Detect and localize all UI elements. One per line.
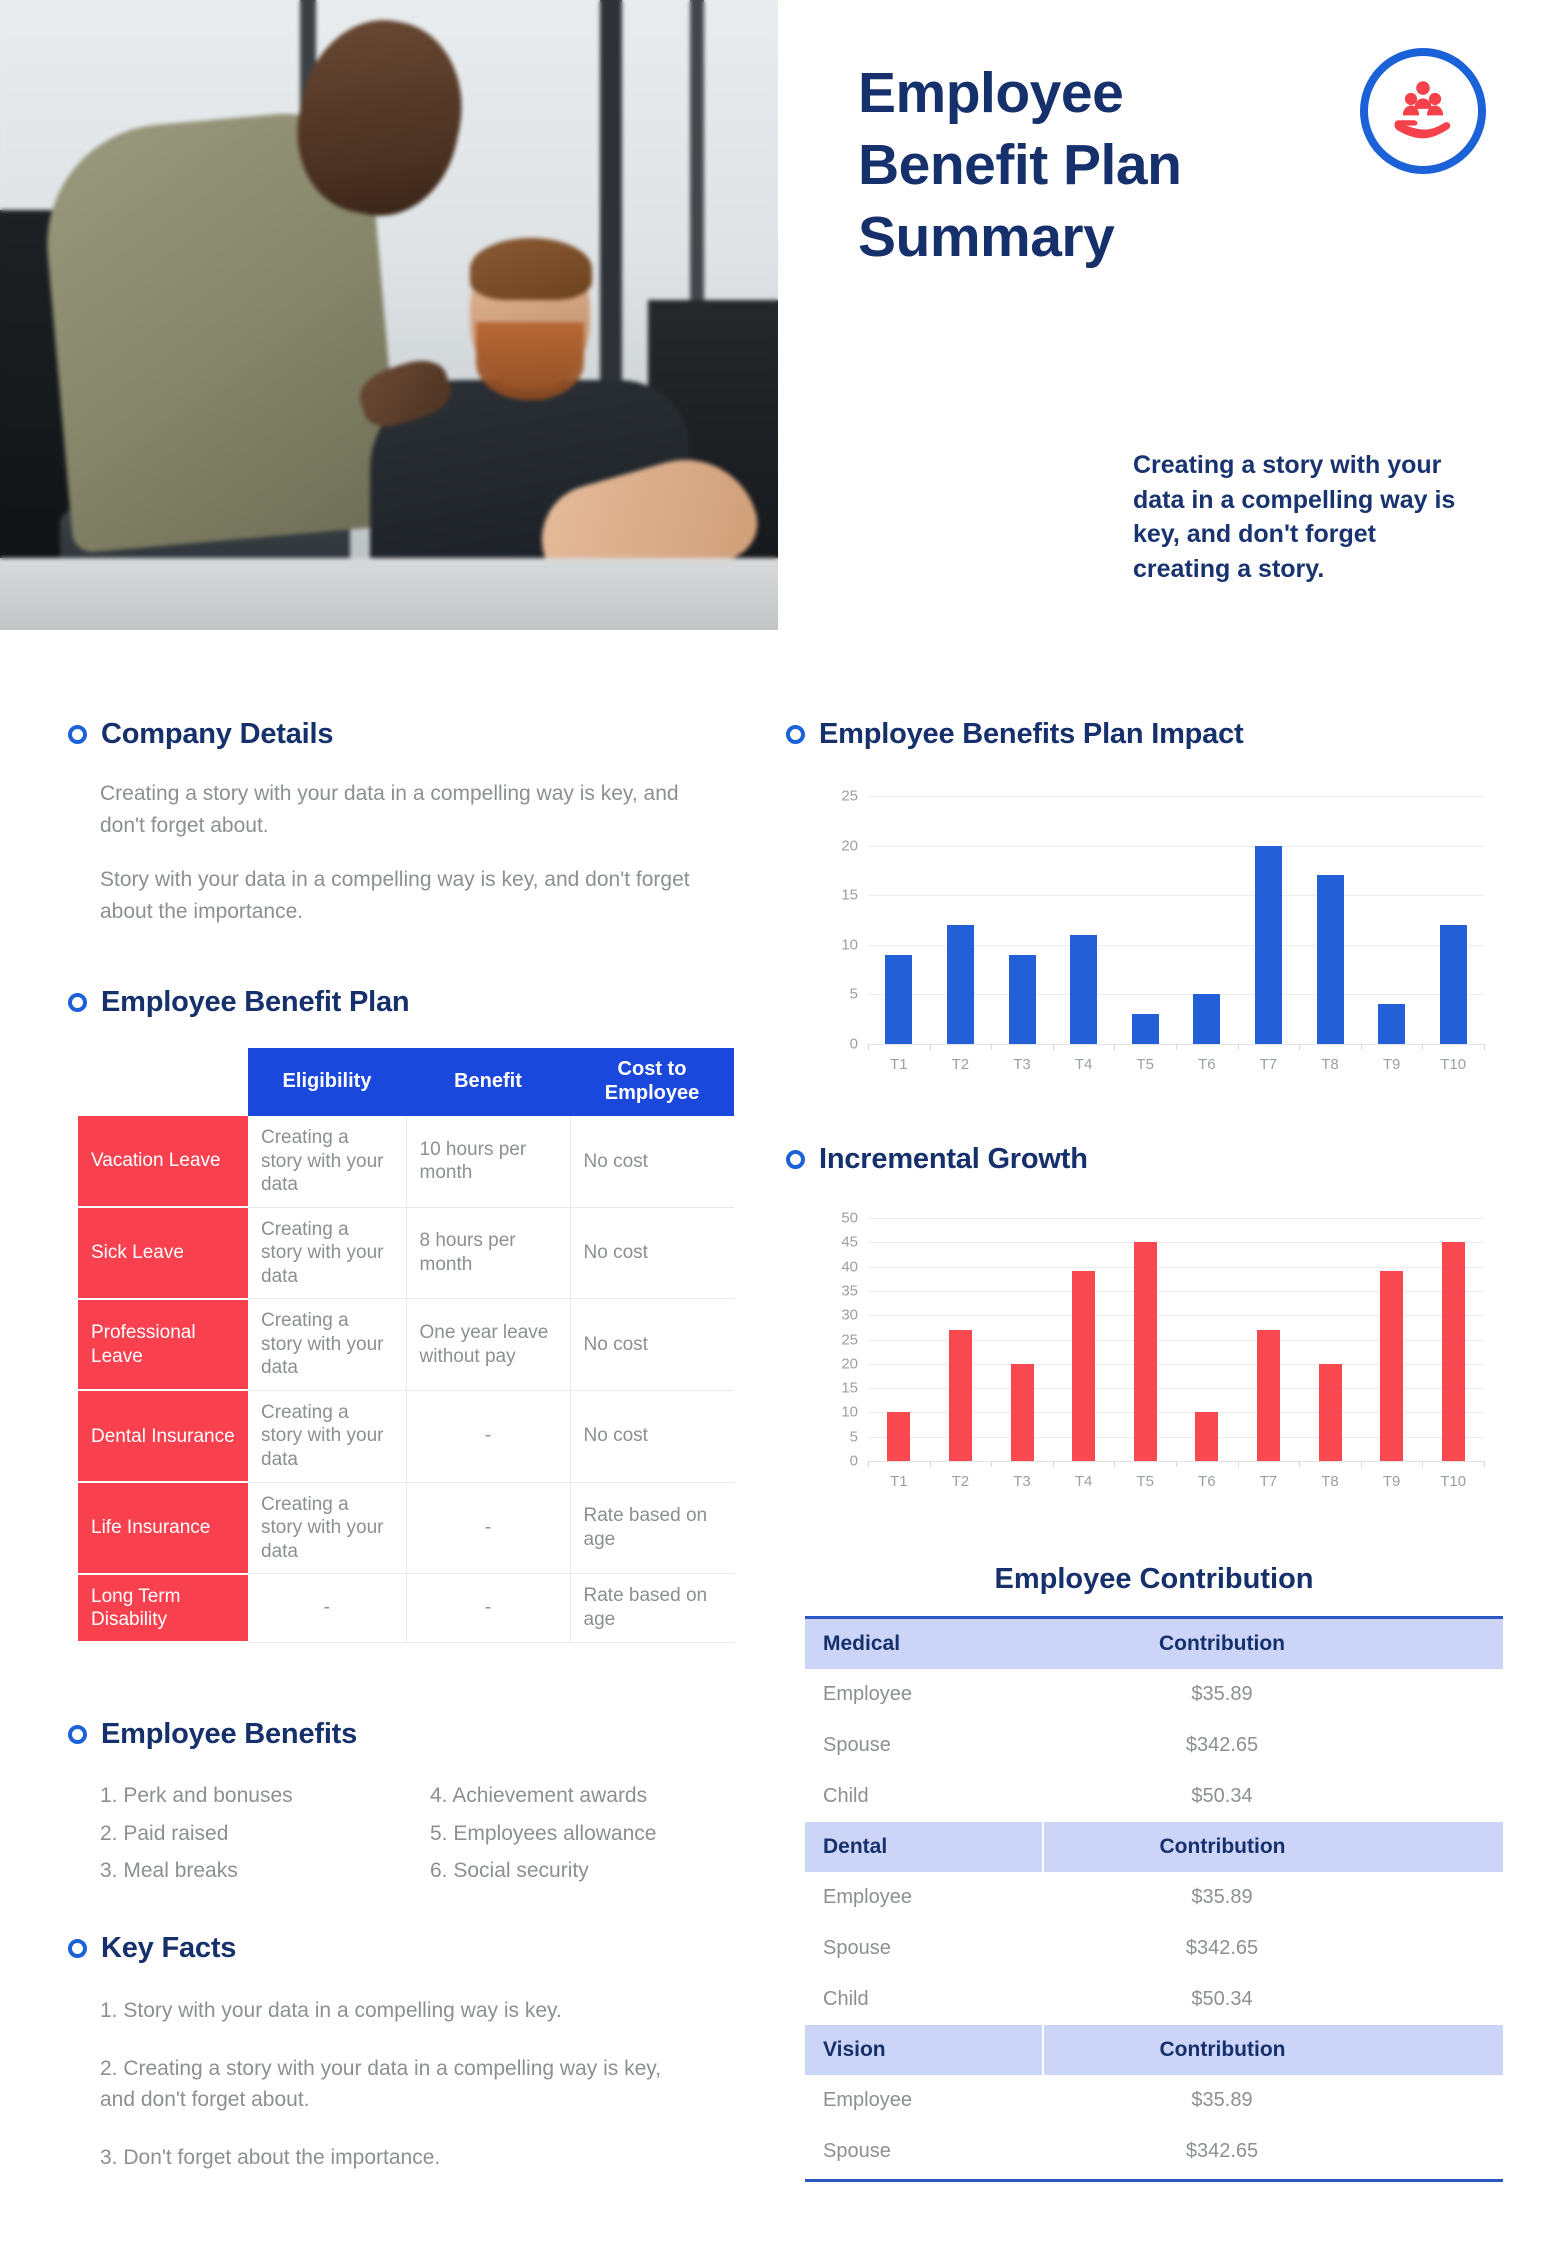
list-item: 5. Employees allowance bbox=[430, 1818, 760, 1850]
bar-T4 bbox=[1072, 1271, 1095, 1461]
list-item: 3. Don't forget about the importance. bbox=[100, 2142, 700, 2174]
company-details-paragraph: Creating a story with your data in a com… bbox=[100, 778, 720, 842]
x-axis-tickmark bbox=[868, 1461, 869, 1467]
x-axis-tickmark bbox=[1484, 1044, 1485, 1050]
row-value: $342.65 bbox=[1043, 1720, 1503, 1771]
infographic-page: Employee Benefit Plan Summary Creating a… bbox=[0, 0, 1557, 2249]
bar-T1 bbox=[887, 1412, 910, 1461]
section-plan-impact-heading: Employee Benefits Plan Impact bbox=[786, 718, 1244, 751]
y-axis-tick-label: 45 bbox=[841, 1234, 858, 1251]
contribution-bottom-rule bbox=[805, 2179, 1503, 2182]
row-label: Long Term Disability bbox=[78, 1574, 248, 1642]
x-axis-tickmark bbox=[991, 1461, 992, 1467]
list-item: 4. Achievement awards bbox=[430, 1780, 760, 1812]
row-label: Life Insurance bbox=[78, 1482, 248, 1574]
contribution-table: MedicalContributionEmployee$35.89Spouse$… bbox=[805, 1619, 1503, 2177]
group-value-header: Contribution bbox=[1043, 1619, 1503, 1669]
y-axis-tick-label: 50 bbox=[841, 1210, 858, 1227]
x-axis-tickmark bbox=[1361, 1044, 1362, 1050]
gridline: 45 bbox=[868, 1242, 1484, 1243]
bar-T2 bbox=[947, 925, 974, 1044]
bar-T7 bbox=[1257, 1330, 1280, 1461]
company-details-title: Company Details bbox=[101, 718, 333, 751]
table-header-row: Eligibility Benefit Cost to Employee bbox=[78, 1048, 734, 1116]
benefit-plan-table-head: Eligibility Benefit Cost to Employee bbox=[78, 1048, 734, 1116]
row-label: Employee bbox=[805, 1669, 1043, 1720]
cell-cost: No cost bbox=[570, 1116, 734, 1207]
table-row: Child$50.34 bbox=[805, 1974, 1503, 2025]
section-company-details-heading: Company Details bbox=[68, 718, 333, 751]
x-axis-tickmark bbox=[930, 1044, 931, 1050]
title-line-1: Employee bbox=[858, 58, 1418, 130]
col-header-eligibility: Eligibility bbox=[248, 1048, 406, 1116]
ring-bullet-icon bbox=[68, 993, 87, 1012]
list-item: 2. Paid raised bbox=[100, 1818, 430, 1850]
ring-bullet-icon bbox=[786, 1150, 805, 1169]
contribution-group-header: MedicalContribution bbox=[805, 1619, 1503, 1669]
bar-T8 bbox=[1319, 1364, 1342, 1461]
list-item: 1. Perk and bonuses bbox=[100, 1780, 430, 1812]
table-row: Vacation Leave Creating a story with you… bbox=[78, 1116, 734, 1207]
y-axis-tick-label: 15 bbox=[841, 1380, 858, 1397]
y-axis-tick-label: 25 bbox=[841, 1331, 858, 1348]
hand-holding-people-icon bbox=[1360, 48, 1486, 174]
x-axis-tick-label: T5 bbox=[1136, 1473, 1154, 1490]
section-key-facts-heading: Key Facts bbox=[68, 1932, 236, 1965]
row-label: Sick Leave bbox=[78, 1207, 248, 1299]
cell-cost: No cost bbox=[570, 1299, 734, 1391]
group-label: Vision bbox=[805, 2025, 1043, 2075]
row-value: $50.34 bbox=[1043, 1974, 1503, 2025]
hero-photo bbox=[0, 0, 778, 630]
cell-cost: Rate based on age bbox=[570, 1482, 734, 1574]
y-axis-tick-label: 0 bbox=[850, 1453, 858, 1470]
incremental-growth-bar-chart: 05101520253035404550T1T2T3T4T5T6T7T8T9T1… bbox=[810, 1210, 1490, 1495]
x-axis-tick-label: T7 bbox=[1260, 1473, 1278, 1490]
group-label: Dental bbox=[805, 1822, 1043, 1872]
x-axis-tickmark bbox=[868, 1044, 869, 1050]
x-axis-tick-label: T4 bbox=[1075, 1056, 1093, 1073]
key-facts-title: Key Facts bbox=[101, 1932, 236, 1965]
x-axis-tickmark bbox=[1238, 1044, 1239, 1050]
x-axis-tick-label: T1 bbox=[890, 1056, 908, 1073]
cell-cost: No cost bbox=[570, 1390, 734, 1482]
cell-benefit: 10 hours per month bbox=[406, 1116, 570, 1207]
x-axis-tickmark bbox=[1299, 1044, 1300, 1050]
header-subtitle: Creating a story with your data in a com… bbox=[1133, 448, 1463, 586]
x-axis-tickmark bbox=[1053, 1461, 1054, 1467]
list-item: 2. Creating a story with your data in a … bbox=[100, 2053, 700, 2116]
table-row: Employee$35.89 bbox=[805, 1669, 1503, 1720]
bar-T5 bbox=[1132, 1014, 1159, 1044]
cell-cost: Rate based on age bbox=[570, 1574, 734, 1642]
row-label: Professional Leave bbox=[78, 1299, 248, 1391]
y-axis-tick-label: 15 bbox=[841, 887, 858, 904]
contribution-table-body: MedicalContributionEmployee$35.89Spouse$… bbox=[805, 1619, 1503, 2177]
row-label: Spouse bbox=[805, 2126, 1043, 2177]
list-item: 6. Social security bbox=[430, 1855, 760, 1887]
row-label: Employee bbox=[805, 1872, 1043, 1923]
cell-cost: No cost bbox=[570, 1207, 734, 1299]
x-axis-tickmark bbox=[1114, 1461, 1115, 1467]
x-axis-tick-label: T3 bbox=[1013, 1473, 1031, 1490]
table-row: Spouse$342.65 bbox=[805, 1923, 1503, 1974]
row-label: Vacation Leave bbox=[78, 1116, 248, 1207]
row-value: $342.65 bbox=[1043, 2126, 1503, 2177]
bar-T9 bbox=[1380, 1271, 1403, 1461]
row-label: Spouse bbox=[805, 1720, 1043, 1771]
table-row: Professional Leave Creating a story with… bbox=[78, 1299, 734, 1391]
x-axis-tick-label: T10 bbox=[1440, 1056, 1466, 1073]
cell-eligibility: Creating a story with your data bbox=[248, 1207, 406, 1299]
x-axis-tick-label: T4 bbox=[1075, 1473, 1093, 1490]
row-value: $50.34 bbox=[1043, 1771, 1503, 1822]
table-row: Spouse$342.65 bbox=[805, 1720, 1503, 1771]
table-row: Sick Leave Creating a story with your da… bbox=[78, 1207, 734, 1299]
table-row: Long Term Disability - - Rate based on a… bbox=[78, 1574, 734, 1642]
section-incremental-growth-heading: Incremental Growth bbox=[786, 1143, 1088, 1176]
x-axis-tick-label: T2 bbox=[952, 1056, 970, 1073]
gridline: 15 bbox=[868, 895, 1484, 896]
bar-T6 bbox=[1193, 994, 1220, 1044]
group-label: Medical bbox=[805, 1619, 1043, 1669]
x-axis-tick-label: T6 bbox=[1198, 1056, 1216, 1073]
cell-eligibility: Creating a story with your data bbox=[248, 1299, 406, 1391]
table-row: Employee$35.89 bbox=[805, 2075, 1503, 2126]
cell-benefit: - bbox=[406, 1482, 570, 1574]
plot-area: 0510152025T1T2T3T4T5T6T7T8T9T10 bbox=[868, 796, 1484, 1044]
x-axis-tickmark bbox=[991, 1044, 992, 1050]
x-axis-tick-label: T8 bbox=[1321, 1473, 1339, 1490]
group-value-header: Contribution bbox=[1043, 1822, 1503, 1872]
group-value-header: Contribution bbox=[1043, 2025, 1503, 2075]
gridline: 20 bbox=[868, 846, 1484, 847]
cell-benefit: One year leave without pay bbox=[406, 1299, 570, 1391]
gridline: 40 bbox=[868, 1267, 1484, 1268]
title-line-3: Summary bbox=[858, 202, 1418, 274]
gridline: 50 bbox=[868, 1218, 1484, 1219]
contribution-title: Employee Contribution bbox=[805, 1563, 1503, 1610]
y-axis-tick-label: 10 bbox=[841, 936, 858, 953]
benefit-plan-title: Employee Benefit Plan bbox=[101, 986, 409, 1019]
cell-benefit: - bbox=[406, 1574, 570, 1642]
bar-T5 bbox=[1134, 1242, 1157, 1461]
x-axis-tickmark bbox=[1422, 1044, 1423, 1050]
cell-eligibility: - bbox=[248, 1574, 406, 1642]
x-axis-tickmark bbox=[1176, 1461, 1177, 1467]
title-line-2: Benefit Plan bbox=[858, 130, 1418, 202]
employee-contribution-panel: Employee Contribution MedicalContributio… bbox=[805, 1563, 1503, 2182]
employee-benefits-title: Employee Benefits bbox=[101, 1718, 357, 1751]
ring-bullet-icon bbox=[68, 725, 87, 744]
y-axis-tick-label: 5 bbox=[850, 986, 858, 1003]
row-value: $35.89 bbox=[1043, 1872, 1503, 1923]
y-axis-tick-label: 40 bbox=[841, 1258, 858, 1275]
hand-holding-people-glyph bbox=[1388, 76, 1458, 146]
y-axis-tick-label: 5 bbox=[850, 1428, 858, 1445]
x-axis-tick-label: T2 bbox=[952, 1473, 970, 1490]
cell-eligibility: Creating a story with your data bbox=[248, 1482, 406, 1574]
ring-bullet-icon bbox=[786, 725, 805, 744]
ring-bullet-icon bbox=[68, 1725, 87, 1744]
table-row: Spouse$342.65 bbox=[805, 2126, 1503, 2177]
x-axis-tickmark bbox=[1299, 1461, 1300, 1467]
x-axis-tick-label: T6 bbox=[1198, 1473, 1216, 1490]
cell-eligibility: Creating a story with your data bbox=[248, 1116, 406, 1207]
x-axis-tickmark bbox=[1422, 1461, 1423, 1467]
section-benefit-plan-heading: Employee Benefit Plan bbox=[68, 986, 409, 1019]
row-label: Employee bbox=[805, 2075, 1043, 2126]
company-details-body: Creating a story with your data in a com… bbox=[100, 778, 720, 928]
contribution-group-header: DentalContribution bbox=[805, 1822, 1503, 1872]
incremental-growth-title: Incremental Growth bbox=[819, 1143, 1088, 1176]
y-axis-tick-label: 25 bbox=[841, 788, 858, 805]
photo-blur-overlay bbox=[0, 0, 778, 630]
x-axis-tickmark bbox=[1176, 1044, 1177, 1050]
bar-T3 bbox=[1011, 1364, 1034, 1461]
bar-T4 bbox=[1070, 935, 1097, 1044]
col-header-blank bbox=[78, 1048, 248, 1116]
table-row: Employee$35.89 bbox=[805, 1872, 1503, 1923]
y-axis-tick-label: 10 bbox=[841, 1404, 858, 1421]
row-label: Child bbox=[805, 1974, 1043, 2025]
bar-T9 bbox=[1378, 1004, 1405, 1044]
benefit-plan-table-body: Vacation Leave Creating a story with you… bbox=[78, 1116, 734, 1642]
x-axis-tickmark bbox=[1114, 1044, 1115, 1050]
bar-T3 bbox=[1009, 955, 1036, 1044]
section-employee-benefits-heading: Employee Benefits bbox=[68, 1718, 357, 1751]
x-axis-tickmark bbox=[1484, 1461, 1485, 1467]
y-axis-tick-label: 30 bbox=[841, 1307, 858, 1324]
table-row: Life Insurance Creating a story with you… bbox=[78, 1482, 734, 1574]
bar-T1 bbox=[885, 955, 912, 1044]
plan-impact-bar-chart: 0510152025T1T2T3T4T5T6T7T8T9T10 bbox=[810, 788, 1490, 1078]
row-label: Child bbox=[805, 1771, 1043, 1822]
company-details-paragraph: Story with your data in a compelling way… bbox=[100, 864, 720, 928]
bar-T8 bbox=[1317, 875, 1344, 1044]
col-header-benefit: Benefit bbox=[406, 1048, 570, 1116]
y-axis-tick-label: 0 bbox=[850, 1036, 858, 1053]
x-axis-tickmark bbox=[1361, 1461, 1362, 1467]
x-axis-tick-label: T9 bbox=[1383, 1473, 1401, 1490]
row-value: $35.89 bbox=[1043, 2075, 1503, 2126]
x-axis-tick-label: T7 bbox=[1260, 1056, 1278, 1073]
bar-T2 bbox=[949, 1330, 972, 1461]
ring-bullet-icon bbox=[68, 1939, 87, 1958]
bar-T7 bbox=[1255, 846, 1282, 1044]
bar-T10 bbox=[1440, 925, 1467, 1044]
bar-T6 bbox=[1195, 1412, 1218, 1461]
key-facts-list: 1. Story with your data in a compelling … bbox=[100, 1995, 700, 2199]
row-label: Dental Insurance bbox=[78, 1390, 248, 1482]
page-title: Employee Benefit Plan Summary bbox=[858, 58, 1418, 273]
cell-benefit: 8 hours per month bbox=[406, 1207, 570, 1299]
y-axis-tick-label: 20 bbox=[841, 837, 858, 854]
list-item: 3. Meal breaks bbox=[100, 1855, 430, 1887]
x-axis-tick-label: T10 bbox=[1440, 1473, 1466, 1490]
cell-benefit: - bbox=[406, 1390, 570, 1482]
table-row: Child$50.34 bbox=[805, 1771, 1503, 1822]
list-item: 1. Story with your data in a compelling … bbox=[100, 1995, 700, 2027]
x-axis-tick-label: T5 bbox=[1136, 1056, 1154, 1073]
x-axis-tick-label: T1 bbox=[890, 1473, 908, 1490]
plan-impact-title: Employee Benefits Plan Impact bbox=[819, 718, 1244, 751]
row-value: $35.89 bbox=[1043, 1669, 1503, 1720]
x-axis-tick-label: T9 bbox=[1383, 1056, 1401, 1073]
y-axis-tick-label: 20 bbox=[841, 1355, 858, 1372]
col-header-cost: Cost to Employee bbox=[570, 1048, 734, 1116]
row-label: Spouse bbox=[805, 1923, 1043, 1974]
x-axis-tick-label: T3 bbox=[1013, 1056, 1031, 1073]
x-axis-tickmark bbox=[1238, 1461, 1239, 1467]
x-axis-tick-label: T8 bbox=[1321, 1056, 1339, 1073]
plot-area: 05101520253035404550T1T2T3T4T5T6T7T8T9T1… bbox=[868, 1218, 1484, 1461]
gridline: 25 bbox=[868, 796, 1484, 797]
row-value: $342.65 bbox=[1043, 1923, 1503, 1974]
y-axis-tick-label: 35 bbox=[841, 1282, 858, 1299]
contribution-group-header: VisionContribution bbox=[805, 2025, 1503, 2075]
x-axis-tickmark bbox=[1053, 1044, 1054, 1050]
x-axis-tickmark bbox=[930, 1461, 931, 1467]
benefit-plan-table: Eligibility Benefit Cost to Employee Vac… bbox=[78, 1048, 734, 1643]
employee-benefits-list: 1. Perk and bonuses 4. Achievement award… bbox=[100, 1780, 760, 1887]
bar-T10 bbox=[1442, 1242, 1465, 1461]
cell-eligibility: Creating a story with your data bbox=[248, 1390, 406, 1482]
table-row: Dental Insurance Creating a story with y… bbox=[78, 1390, 734, 1482]
